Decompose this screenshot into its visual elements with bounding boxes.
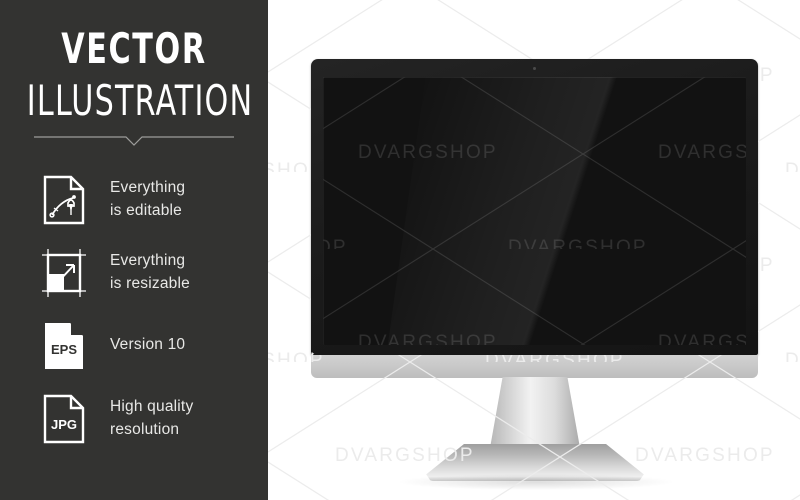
title-line-vector: VECTOR (27, 28, 241, 70)
webcam-dot (533, 67, 536, 70)
eps-file-icon: EPS (38, 318, 90, 374)
feature-label-line: is editable (110, 200, 185, 223)
feature-label-line: High quality (110, 396, 193, 419)
jpg-file-icon: JPG (38, 391, 90, 447)
feature-item-resizable: Everything is resizable (0, 236, 268, 309)
monitor-mockup: DVARGSHOP DVARGSHOP DVARGSHOP (311, 59, 758, 377)
monitor-screen: DVARGSHOP DVARGSHOP DVARGSHOP (323, 77, 746, 345)
feature-label-resizable: Everything is resizable (110, 250, 190, 296)
feature-label-line: Everything (110, 177, 185, 200)
feature-label-line: resolution (110, 419, 193, 442)
info-panel: VECTOR ILLUSTRATION (0, 0, 268, 500)
poster-canvas: DVARGSHOP DVARGSHOP DVARGSHOP VECTOR ILL… (0, 0, 800, 500)
feature-label-editable: Everything is editable (110, 177, 185, 223)
page-title: VECTOR ILLUSTRATION (0, 28, 268, 122)
document-pen-icon (38, 172, 90, 228)
feature-label-line: is resizable (110, 273, 190, 296)
feature-item-quality: JPG High quality resolution (0, 382, 268, 455)
feature-list: Everything is editable (0, 163, 268, 455)
feature-label-line: Version 10 (110, 334, 185, 357)
feature-label-line: Everything (110, 250, 190, 273)
jpg-file-icon-label: JPG (51, 417, 77, 432)
monitor-shadow (400, 474, 672, 490)
screen-watermark: DVARGSHOP DVARGSHOP DVARGSHOP (323, 77, 746, 345)
feature-item-version: EPS Version 10 (0, 309, 268, 382)
monitor-chin (311, 355, 758, 378)
feature-item-editable: Everything is editable (0, 163, 268, 236)
monitor-body: DVARGSHOP DVARGSHOP DVARGSHOP (311, 59, 758, 355)
monitor-stand-neck (490, 377, 580, 448)
title-line-illustration: ILLUSTRATION (27, 80, 241, 122)
eps-file-icon-label: EPS (51, 342, 77, 357)
feature-label-quality: High quality resolution (110, 396, 193, 442)
divider (34, 134, 234, 148)
feature-label-version: Version 10 (110, 334, 185, 357)
resize-arrow-icon (38, 245, 90, 301)
